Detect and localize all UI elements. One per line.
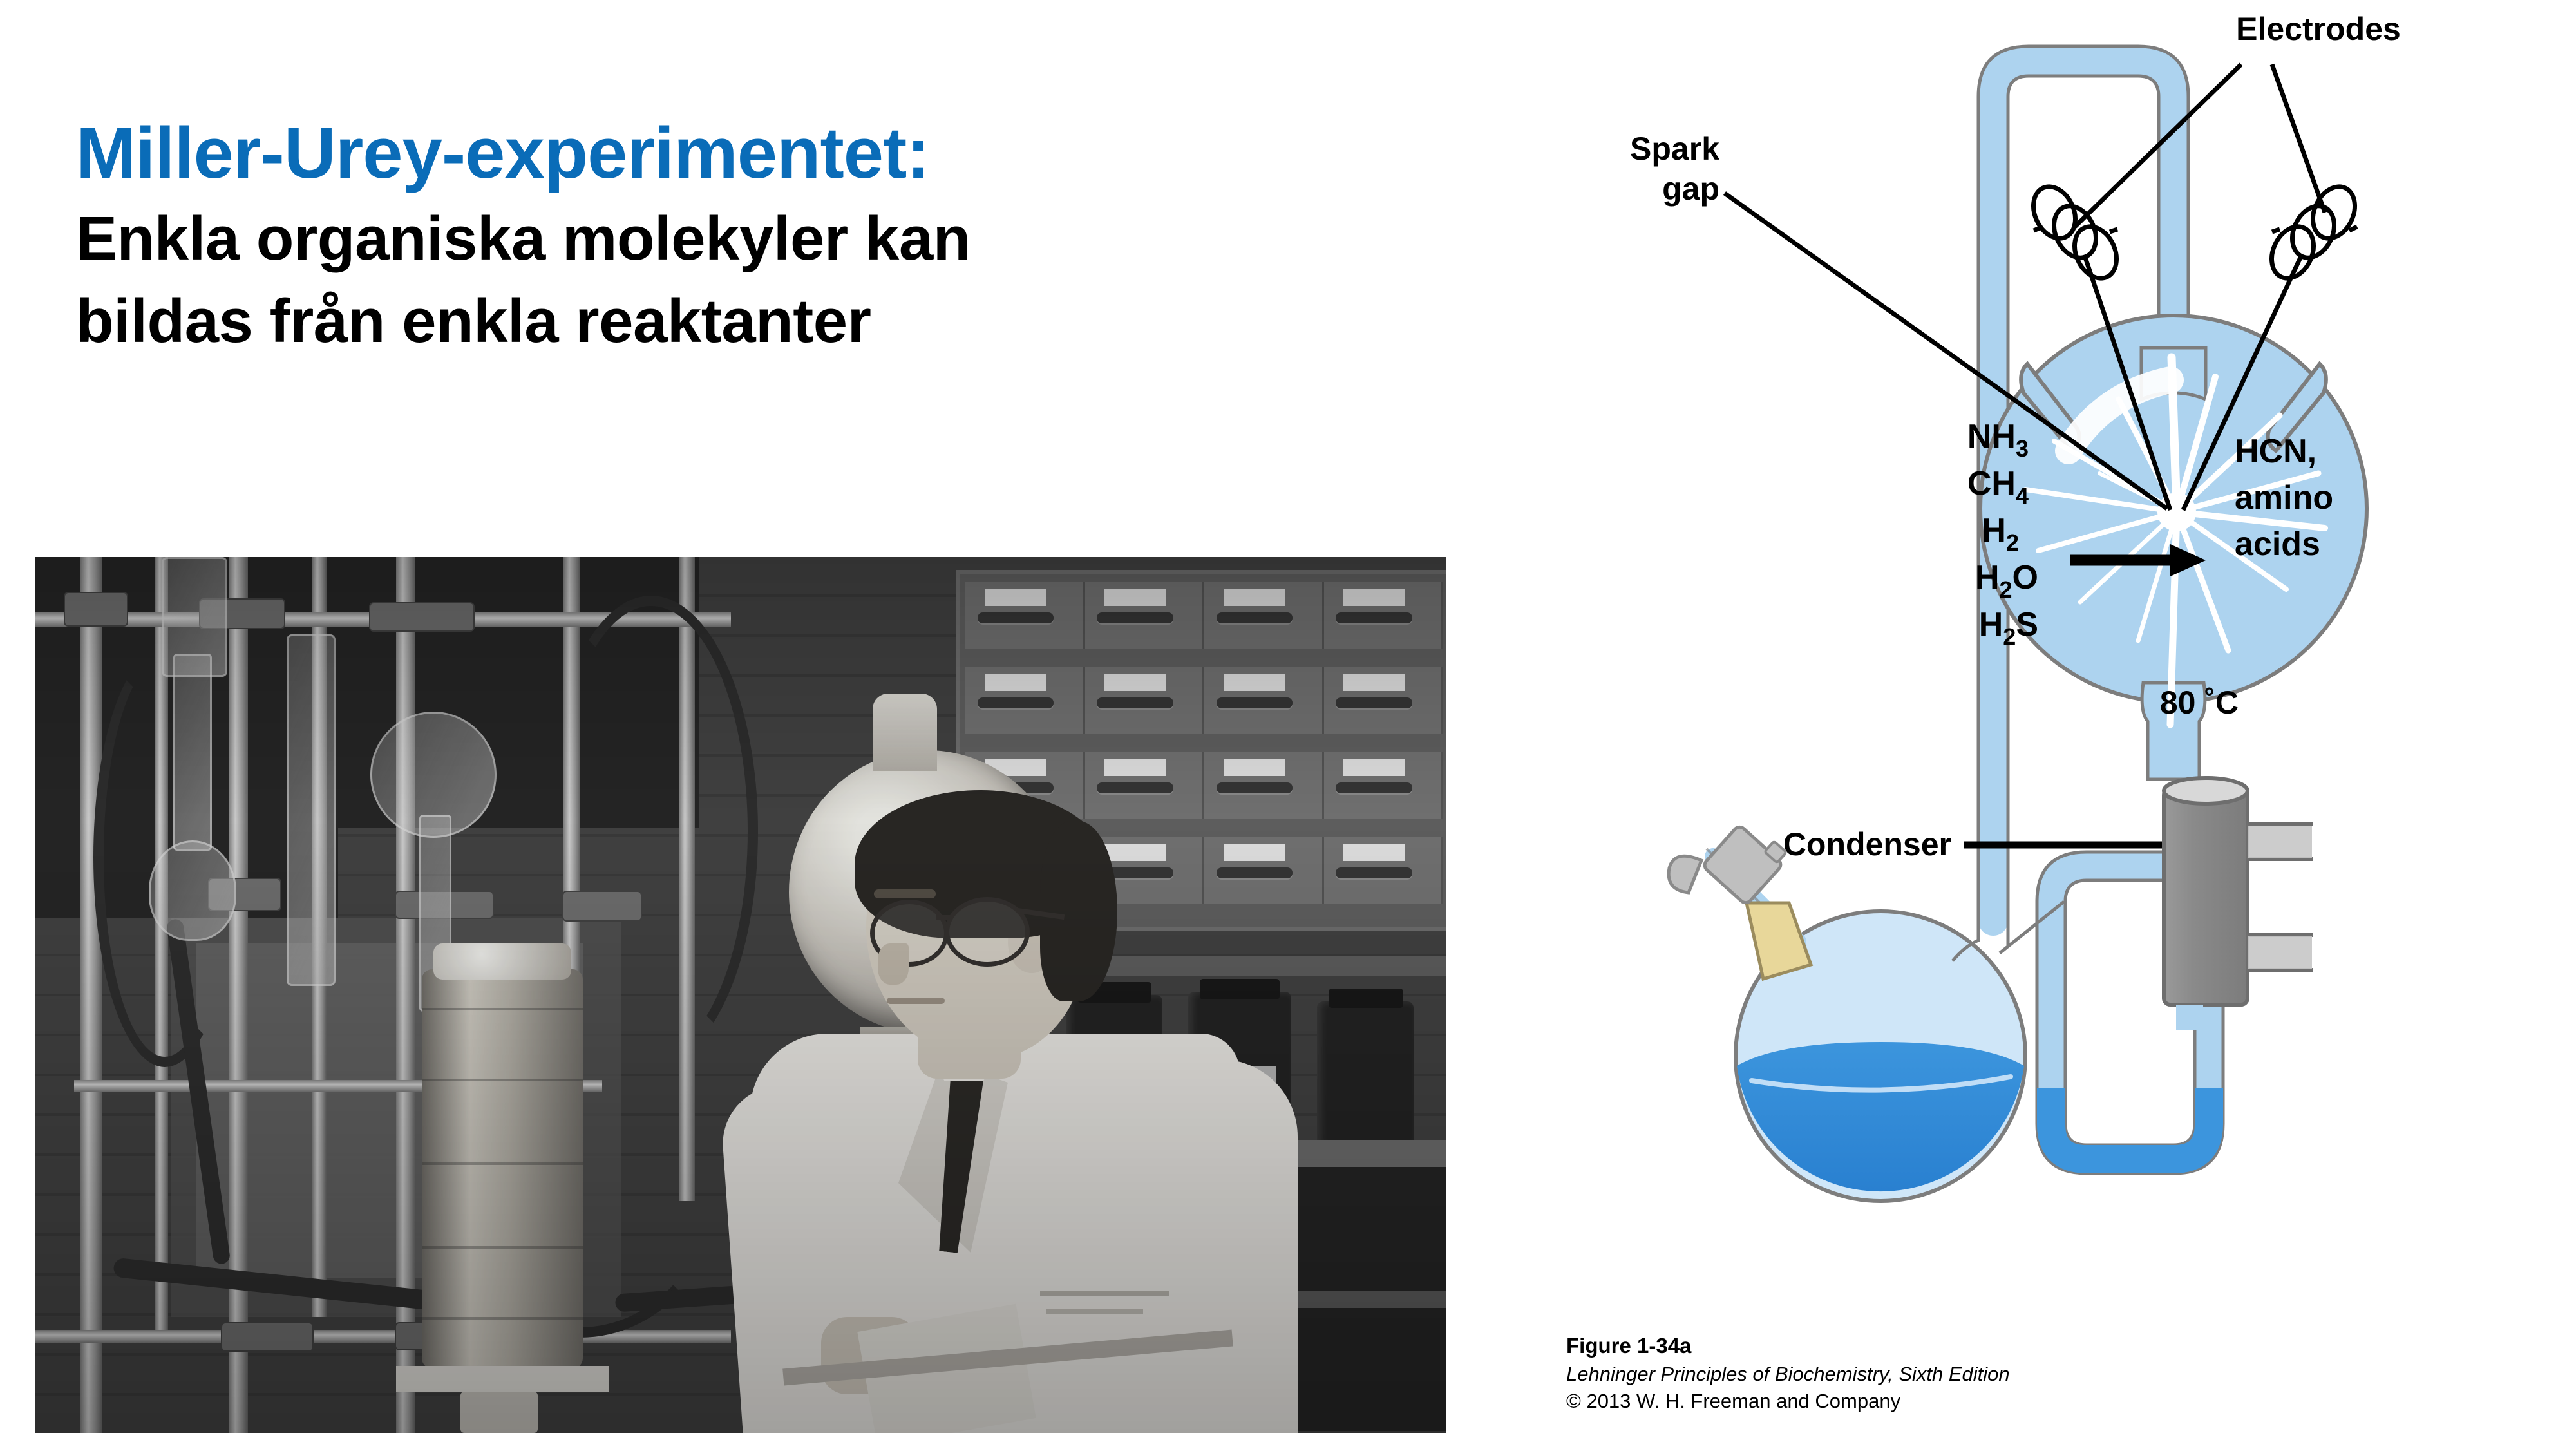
- scientist-nose: [878, 943, 909, 985]
- stopcock-ground-joint: [1747, 903, 1811, 979]
- laboratory-photograph: [35, 557, 1446, 1433]
- label-condenser: Condenser: [1783, 826, 1951, 862]
- scientist-coat-shoulder: [1104, 1059, 1298, 1433]
- drawer-label-holder: [1104, 589, 1166, 606]
- page-title: Miller-Urey-experimentet:: [76, 109, 1235, 198]
- photo-flask-neck: [873, 694, 937, 771]
- photo-scientist: [705, 782, 1285, 1433]
- slide-canvas: Miller-Urey-experimentet: Enkla organisk…: [0, 0, 2576, 1449]
- caption-copyright: © 2013 W. H. Freeman and Company: [1566, 1388, 2339, 1415]
- photo-stand-rod: [229, 557, 248, 1433]
- label-spark-gap-line2: gap: [1662, 171, 1719, 207]
- drawer-label-holder: [1343, 844, 1405, 861]
- drawer-label-holder: [1104, 674, 1166, 691]
- drawer-label-holder: [1224, 674, 1285, 691]
- condenser-port-lower: [2248, 936, 2312, 969]
- photo-glass-column: [287, 634, 336, 986]
- boiling-flask-water: [1737, 1042, 2024, 1191]
- photo-clamp: [222, 1323, 312, 1350]
- label-spark-gap-line1: Spark: [1630, 131, 1719, 167]
- drawer-label-holder: [1343, 589, 1405, 606]
- drawer-handle: [978, 612, 1054, 623]
- product-line-1: HCN,: [2235, 433, 2316, 470]
- condenser-port-upper: [2248, 826, 2312, 858]
- cabinet-drawer: [1324, 667, 1444, 734]
- drawer-handle: [1336, 697, 1412, 708]
- title-block: Miller-Urey-experimentet: Enkla organisk…: [76, 109, 1235, 363]
- product-line-3: acids: [2235, 526, 2320, 563]
- cabinet-drawer: [1085, 667, 1205, 734]
- cylinder-band: [422, 1317, 583, 1320]
- drawer-label-holder: [985, 674, 1046, 691]
- cabinet-drawer: [1085, 582, 1205, 649]
- leader-line-electrodes-right: [2272, 64, 2325, 213]
- label-electrodes: Electrodes: [2236, 11, 2401, 47]
- drawer-label-holder: [1343, 759, 1405, 776]
- drawer-label-holder: [1224, 759, 1285, 776]
- drawer-label-holder: [1343, 674, 1405, 691]
- cabinet-drawer: [1324, 582, 1444, 649]
- photo-reagent-bottle: [1317, 1001, 1414, 1146]
- subtitle-line-1: Enkla organiska molekyler kan: [76, 198, 1235, 281]
- label-temperature: 80 ˚C: [2160, 685, 2239, 721]
- drawer-handle: [1217, 697, 1293, 708]
- scientist-eyebrow: [874, 889, 936, 898]
- cabinet-drawer: [965, 582, 1085, 649]
- scientist-mouth: [887, 998, 945, 1004]
- cabinet-drawer: [1204, 667, 1324, 734]
- product-line-2: amino: [2235, 479, 2333, 516]
- photo-clamp: [65, 593, 127, 625]
- scientist-pocket-embroidery: [1040, 1291, 1169, 1296]
- cylinder-band: [422, 1246, 583, 1249]
- photo-bottle-cap: [1329, 989, 1403, 1008]
- drawer-handle: [1217, 612, 1293, 623]
- cabinet-drawer-row: [965, 582, 1443, 649]
- cabinet-drawer: [1324, 752, 1444, 819]
- photo-clamp: [370, 603, 473, 630]
- photo-stand-base: [396, 1366, 609, 1392]
- photo-base-support: [460, 1392, 538, 1433]
- drawer-label-holder: [1104, 759, 1166, 776]
- drawer-handle: [1097, 612, 1173, 623]
- u-trap-water: [2051, 1088, 2209, 1159]
- scientist-pocket-embroidery: [1046, 1309, 1143, 1314]
- drawer-label-holder: [985, 589, 1046, 606]
- drawer-handle: [1336, 867, 1412, 878]
- scientist-hair-side: [1040, 821, 1117, 1001]
- stopcock-handle: [1669, 856, 1701, 893]
- photo-glass-tube: [173, 654, 212, 851]
- photo-glass-bulb: [149, 840, 236, 941]
- cabinet-drawer: [1324, 837, 1444, 904]
- cylinder-band: [422, 1162, 583, 1165]
- photo-cylinder-cap: [433, 943, 571, 980]
- cabinet-drawer-row: [965, 667, 1443, 734]
- miller-urey-apparatus-diagram: Electrodes Spark gap Condenser 80 ˚C NH3…: [1520, 0, 2576, 1327]
- condenser-top-rim: [2164, 778, 2248, 804]
- drawer-handle: [1336, 782, 1412, 793]
- drawer-label-holder: [1224, 589, 1285, 606]
- photo-cross-rod: [35, 1330, 731, 1343]
- photo-stand-rod: [80, 557, 102, 1433]
- scientist-glasses-bridge: [936, 915, 951, 920]
- cabinet-drawer: [965, 667, 1085, 734]
- drawer-handle: [1097, 697, 1173, 708]
- electrode-coil-right: [2264, 180, 2363, 285]
- photo-metal-cylinder: [422, 969, 583, 1368]
- subtitle-line-2: bildas från enkla reaktanter: [76, 280, 1235, 363]
- figure-caption: Figure 1-34a Lehninger Principles of Bio…: [1566, 1332, 2339, 1415]
- cylinder-band: [422, 1008, 583, 1010]
- stopcock-body: [1702, 824, 1783, 905]
- cabinet-drawer: [1204, 582, 1324, 649]
- drawer-handle: [978, 697, 1054, 708]
- drawer-handle: [1336, 612, 1412, 623]
- caption-book-title: Lehninger Principles of Biochemistry, Si…: [1566, 1361, 2339, 1388]
- condenser-body: [2164, 789, 2248, 1005]
- caption-figure-number: Figure 1-34a: [1566, 1332, 2339, 1361]
- cylinder-band: [422, 1079, 583, 1081]
